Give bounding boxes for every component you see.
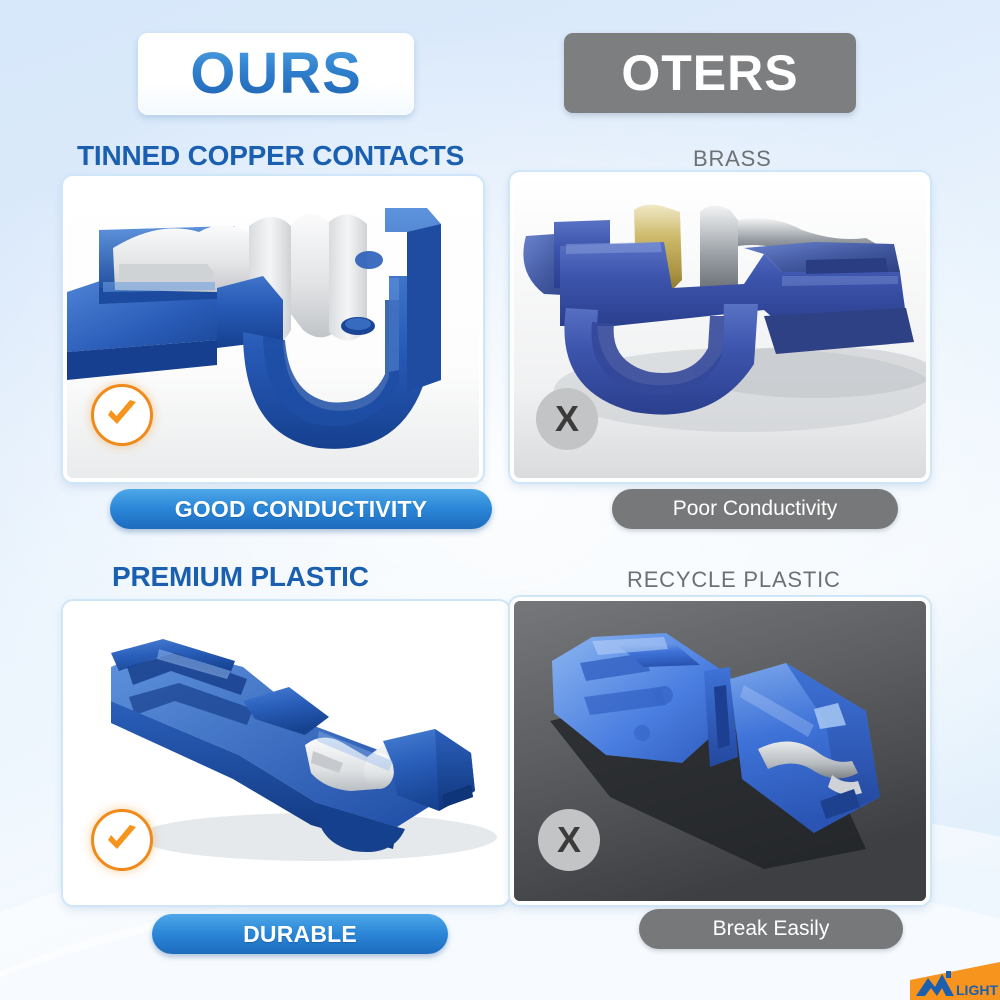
pill-durable-label: DURABLE bbox=[243, 921, 357, 948]
nilight-logo-icon: LIGHT bbox=[904, 954, 1000, 1000]
infographic-canvas: OURS OTERS TINNED COPPER CONTACTS BRASS bbox=[0, 0, 1000, 1000]
check-icon bbox=[91, 809, 153, 871]
caption-others-contacts: BRASS bbox=[693, 146, 772, 172]
photo-ours-plastic bbox=[67, 605, 505, 901]
photo-ours-contacts bbox=[67, 180, 479, 478]
ours-banner: OURS bbox=[138, 33, 414, 115]
others-title: OTERS bbox=[621, 48, 798, 98]
photo-others-contacts: X bbox=[514, 176, 926, 478]
others-banner: OTERS bbox=[564, 33, 856, 113]
x-icon: X bbox=[536, 388, 598, 450]
pill-good-conductivity: GOOD CONDUCTIVITY bbox=[110, 489, 492, 529]
check-icon bbox=[91, 384, 153, 446]
caption-ours-plastic: PREMIUM PLASTIC bbox=[112, 561, 369, 593]
caption-others-plastic: RECYCLE PLASTIC bbox=[627, 567, 841, 593]
pill-durable: DURABLE bbox=[152, 914, 448, 954]
photo-others-plastic: X bbox=[514, 601, 926, 901]
photo-panel-others-contacts: X bbox=[510, 172, 930, 482]
svg-text:LIGHT: LIGHT bbox=[956, 982, 998, 998]
photo-panel-others-plastic: X bbox=[510, 597, 930, 905]
photo-panel-ours-plastic bbox=[63, 601, 509, 905]
brand-logo: LIGHT bbox=[904, 954, 1000, 1000]
photo-panel-ours-contacts bbox=[63, 176, 483, 482]
pill-good-conductivity-label: GOOD CONDUCTIVITY bbox=[175, 496, 428, 523]
x-icon-label: X bbox=[555, 401, 579, 437]
pill-poor-conductivity: Poor Conductivity bbox=[612, 489, 898, 529]
header-row: OURS OTERS bbox=[0, 33, 1000, 123]
x-icon: X bbox=[538, 809, 600, 871]
caption-ours-contacts: TINNED COPPER CONTACTS bbox=[77, 140, 464, 172]
pill-break-easily: Break Easily bbox=[639, 909, 903, 949]
pill-poor-conductivity-label: Poor Conductivity bbox=[673, 497, 838, 521]
ours-title: OURS bbox=[190, 45, 362, 103]
pill-break-easily-label: Break Easily bbox=[713, 917, 830, 941]
x-icon-label: X bbox=[557, 822, 581, 858]
